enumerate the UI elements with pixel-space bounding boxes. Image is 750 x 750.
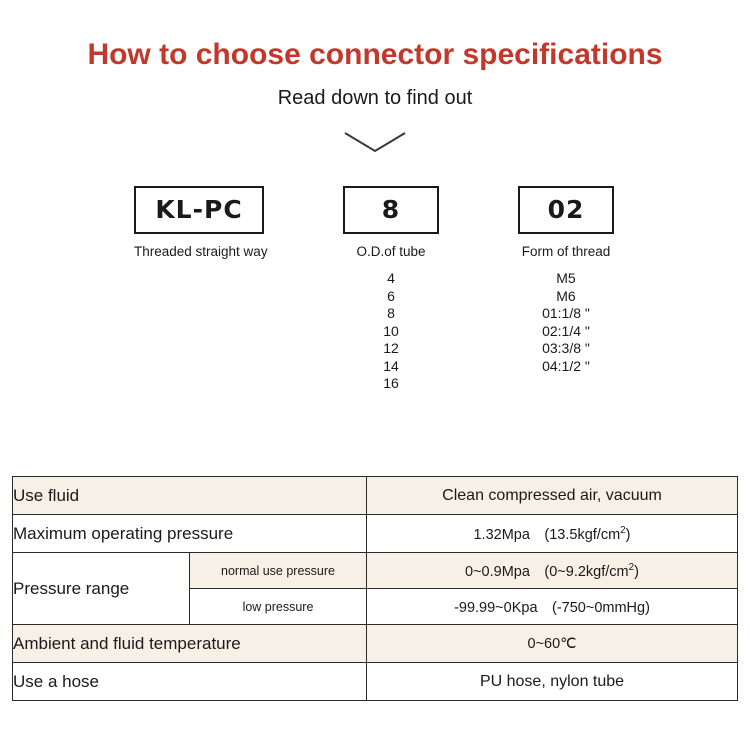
- code-breakdown-row: KL-PC Threaded straight way 8 O.D.of tub…: [0, 186, 750, 256]
- table-row-max-operating-pressure: Maximum operating pressure 1.32Mpa (13.5…: [13, 515, 738, 553]
- page-title: How to choose connector specifications: [0, 38, 750, 72]
- table-row-normal-use-pressure: Pressure range normal use pressure 0~0.9…: [13, 553, 738, 589]
- code-box-series: KL-PC: [134, 186, 264, 234]
- spec-label-ambient-fluid-temperature: Ambient and fluid temperature: [13, 625, 367, 663]
- option-list-thread-form: M5M601:1/8 "02:1/4 "03:3/8 "04:1/2 ": [498, 270, 634, 375]
- option-item: M5: [498, 270, 634, 288]
- table-row-ambient-fluid-temperature: Ambient and fluid temperature 0~60℃: [13, 625, 738, 663]
- code-caption-tube-od: O.D.of tube: [343, 244, 439, 259]
- option-item: 10: [343, 323, 439, 341]
- spec-value-use-a-hose: PU hose, nylon tube: [367, 663, 738, 701]
- code-part-od-of-tube: 8 O.D.of tube: [343, 186, 439, 259]
- page-subtitle: Read down to find out: [0, 87, 750, 110]
- spec-label-pressure-range: Pressure range: [13, 553, 190, 625]
- option-lists: 46810121416 M5M601:1/8 "02:1/4 "03:3/8 "…: [0, 270, 750, 420]
- option-item: 8: [343, 305, 439, 323]
- option-item: 6: [343, 288, 439, 306]
- code-caption-series: Threaded straight way: [134, 244, 264, 259]
- specification-table: Use fluid Clean compressed air, vacuum M…: [12, 476, 738, 701]
- spec-label-use-a-hose: Use a hose: [13, 663, 367, 701]
- spec-value-max-operating-pressure: 1.32Mpa (13.5kgf/cm2): [367, 515, 738, 553]
- option-item: 04:1/2 ": [498, 358, 634, 376]
- option-item: 02:1/4 ": [498, 323, 634, 341]
- option-item: 01:1/8 ": [498, 305, 634, 323]
- code-part-form-of-thread: 02 Form of thread: [518, 186, 614, 259]
- option-item: 14: [343, 358, 439, 376]
- option-item: 12: [343, 340, 439, 358]
- spec-label-use-fluid: Use fluid: [13, 477, 367, 515]
- option-item: 03:3/8 ": [498, 340, 634, 358]
- spec-value-use-fluid: Clean compressed air, vacuum: [367, 477, 738, 515]
- specification-table-body: Use fluid Clean compressed air, vacuum M…: [13, 477, 738, 701]
- spec-label-max-operating-pressure: Maximum operating pressure: [13, 515, 367, 553]
- code-part-threaded-straight-way: KL-PC Threaded straight way: [134, 186, 264, 259]
- code-box-tube-od: 8: [343, 186, 439, 234]
- code-caption-thread-form: Form of thread: [518, 244, 614, 259]
- option-list-tube-od: 46810121416: [343, 270, 439, 393]
- option-item: M6: [498, 288, 634, 306]
- spec-value-normal-use-pressure: 0~0.9Mpa (0~9.2kgf/cm2): [367, 553, 738, 589]
- option-item: 4: [343, 270, 439, 288]
- spec-sublabel-low-pressure: low pressure: [190, 589, 367, 625]
- spec-sublabel-normal-use-pressure: normal use pressure: [190, 553, 367, 589]
- spec-value-ambient-fluid-temperature: 0~60℃: [367, 625, 738, 663]
- chevron-container: [0, 130, 750, 159]
- chevron-down-icon: [343, 130, 407, 159]
- option-item: 16: [343, 375, 439, 393]
- spec-value-low-pressure: -99.99~0Kpa (-750~0mmHg): [367, 589, 738, 625]
- table-row-use-fluid: Use fluid Clean compressed air, vacuum: [13, 477, 738, 515]
- code-box-thread-form: 02: [518, 186, 614, 234]
- table-row-use-a-hose: Use a hose PU hose, nylon tube: [13, 663, 738, 701]
